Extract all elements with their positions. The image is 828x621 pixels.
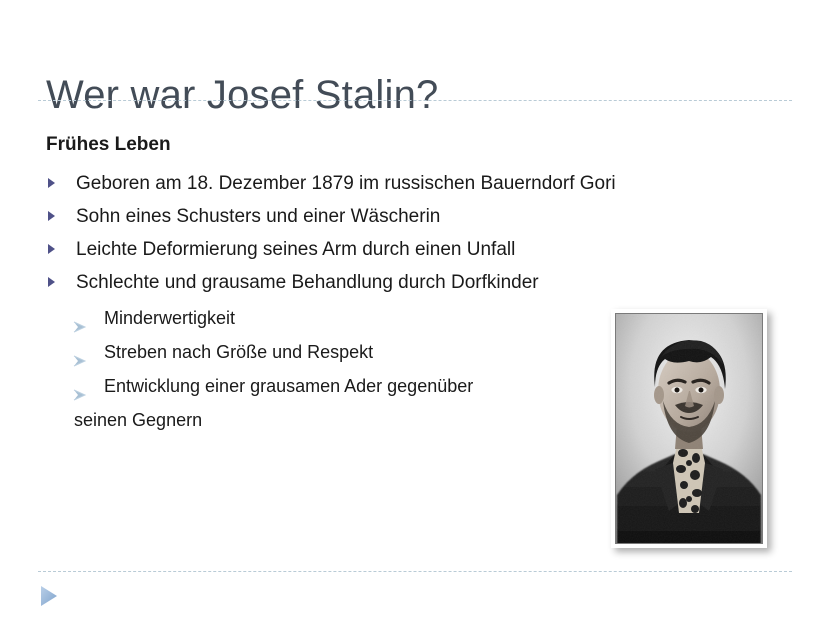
- bullet-list-level-1: Geboren am 18. Dezember 1879 im russisch…: [46, 167, 606, 299]
- footer-divider-dashed-line: [38, 571, 792, 572]
- chevron-right-bullet-icon: [73, 311, 87, 325]
- list-item: Geboren am 18. Dezember 1879 im russisch…: [46, 167, 606, 200]
- list-item: Entwicklung einer grausamen Ader gegenüb…: [46, 369, 606, 403]
- chevron-right-bullet-icon: [73, 345, 87, 359]
- list-item-label: Streben nach Größe und Respekt: [104, 342, 373, 362]
- slide-body-content: Frühes Leben Geboren am 18. Dezember 187…: [46, 133, 606, 437]
- portrait-photo-frame: [611, 309, 767, 548]
- list-item: Sohn eines Schusters und einer Wäscherin: [46, 200, 606, 233]
- triangle-bullet-icon: [48, 211, 55, 221]
- triangle-bullet-icon: [48, 244, 55, 254]
- wrapped-continuation-line: seinen Gegnern: [46, 403, 606, 437]
- list-item: Minderwertigkeit: [46, 301, 606, 335]
- triangle-bullet-icon: [48, 178, 55, 188]
- list-item-label: Sohn eines Schusters und einer Wäscherin: [76, 206, 440, 227]
- list-item: Leichte Deformierung seines Arm durch ei…: [46, 233, 606, 266]
- list-item-label: Minderwertigkeit: [104, 308, 235, 328]
- list-item: Streben nach Größe und Respekt: [46, 335, 606, 369]
- list-item-label: Geboren am 18. Dezember 1879 im russisch…: [76, 173, 616, 194]
- presentation-slide: Wer war Josef Stalin? Frühes Leben Gebor…: [0, 0, 828, 621]
- page-title: Wer war Josef Stalin?: [46, 71, 439, 119]
- list-item-label: Entwicklung einer grausamen Ader gegenüb…: [104, 376, 473, 396]
- stalin-portrait-image: [615, 313, 763, 544]
- chevron-right-bullet-icon: [73, 379, 87, 393]
- triangle-bullet-icon: [48, 277, 55, 287]
- next-slide-button[interactable]: [38, 584, 59, 608]
- list-item-label: Leichte Deformierung seines Arm durch ei…: [76, 239, 515, 260]
- list-item-label: Schlechte und grausame Behandlung durch …: [76, 272, 539, 293]
- section-heading: Frühes Leben: [46, 133, 606, 157]
- list-item: Schlechte und grausame Behandlung durch …: [46, 266, 606, 299]
- bullet-list-level-2: Minderwertigkeit Streben nach Größe und …: [46, 301, 606, 403]
- title-divider-dashed-line: [38, 100, 792, 101]
